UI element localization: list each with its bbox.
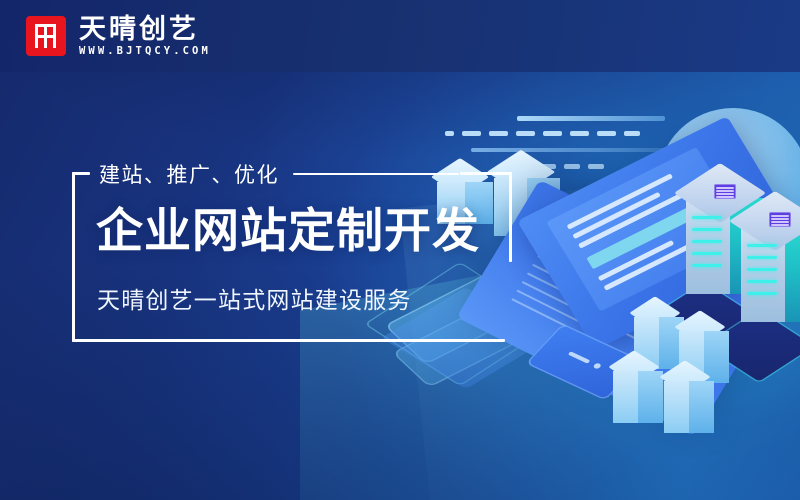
deco-dash-8 — [624, 131, 640, 136]
headline-block: 建站、推广、优化 企业网站定制开发 天晴创艺一站式网站建设服务 — [72, 172, 512, 342]
deco-dash-4 — [516, 131, 535, 136]
deco-line-1 — [517, 116, 665, 121]
page-subtitle: 天晴创艺一站式网站建设服务 — [97, 290, 412, 313]
brand-name-cn: 天晴创艺 — [79, 16, 211, 43]
deco-dash-1 — [445, 131, 454, 136]
deco-dash-2 — [462, 131, 481, 136]
frame-top-right-rule — [460, 172, 512, 175]
deco-dash-10 — [564, 164, 580, 169]
brand-website: WWW.BJTQCY.COM — [79, 46, 211, 57]
eyebrow-rule — [293, 173, 459, 175]
eyebrow-row: 建站、推广、优化 — [99, 159, 459, 189]
page-title: 企业网站定制开发 — [96, 208, 480, 255]
promo-banner: 天晴创艺 WWW.BJTQCY.COM 建站、推广、优化 企业网站定制开发 天晴… — [0, 0, 800, 500]
frame-right-rule — [509, 172, 512, 262]
deco-dash-6 — [570, 131, 589, 136]
deco-dash-7 — [597, 131, 616, 136]
deco-line-2 — [471, 148, 683, 152]
frame-top-left-rule — [72, 172, 90, 175]
deco-dash-3 — [489, 131, 508, 136]
deco-dash-5 — [543, 131, 562, 136]
tianqing-logo-mark — [26, 16, 66, 56]
deco-dash-11 — [588, 164, 604, 169]
frame-left-rule — [72, 172, 75, 342]
frame-bottom-rule — [72, 339, 505, 342]
brand-logo[interactable]: 天晴创艺 WWW.BJTQCY.COM — [26, 16, 211, 57]
eyebrow-text: 建站、推广、优化 — [99, 159, 279, 189]
